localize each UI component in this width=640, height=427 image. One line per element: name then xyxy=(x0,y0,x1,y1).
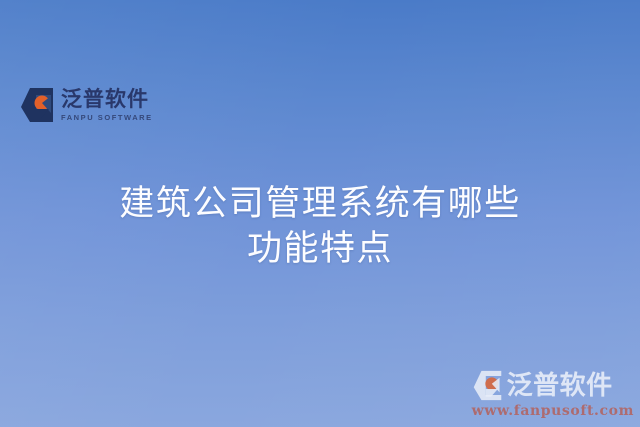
fanpu-logo-icon xyxy=(472,370,503,401)
watermark-url: www.fanpusoft.com xyxy=(472,403,634,419)
page-title: 建筑公司管理系统有哪些 功能特点 xyxy=(0,182,640,272)
brand-name-en: FANPU SOFTWARE xyxy=(61,114,153,122)
page-title-line-1: 建筑公司管理系统有哪些 xyxy=(0,182,640,227)
fanpu-logo-icon xyxy=(20,87,54,123)
brand-logo: 泛普软件 FANPU SOFTWARE xyxy=(20,87,153,123)
watermark: 泛普软件 www.fanpusoft.com xyxy=(472,370,634,419)
watermark-logo: 泛普软件 xyxy=(472,370,634,401)
page-title-line-2: 功能特点 xyxy=(0,227,640,272)
promo-banner: 泛普软件 FANPU SOFTWARE 建筑公司管理系统有哪些 功能特点 泛普软… xyxy=(0,0,640,427)
watermark-name-cn: 泛普软件 xyxy=(507,373,613,399)
brand-name-cn: 泛普软件 xyxy=(61,88,153,111)
brand-wordmark: 泛普软件 FANPU SOFTWARE xyxy=(61,88,153,121)
